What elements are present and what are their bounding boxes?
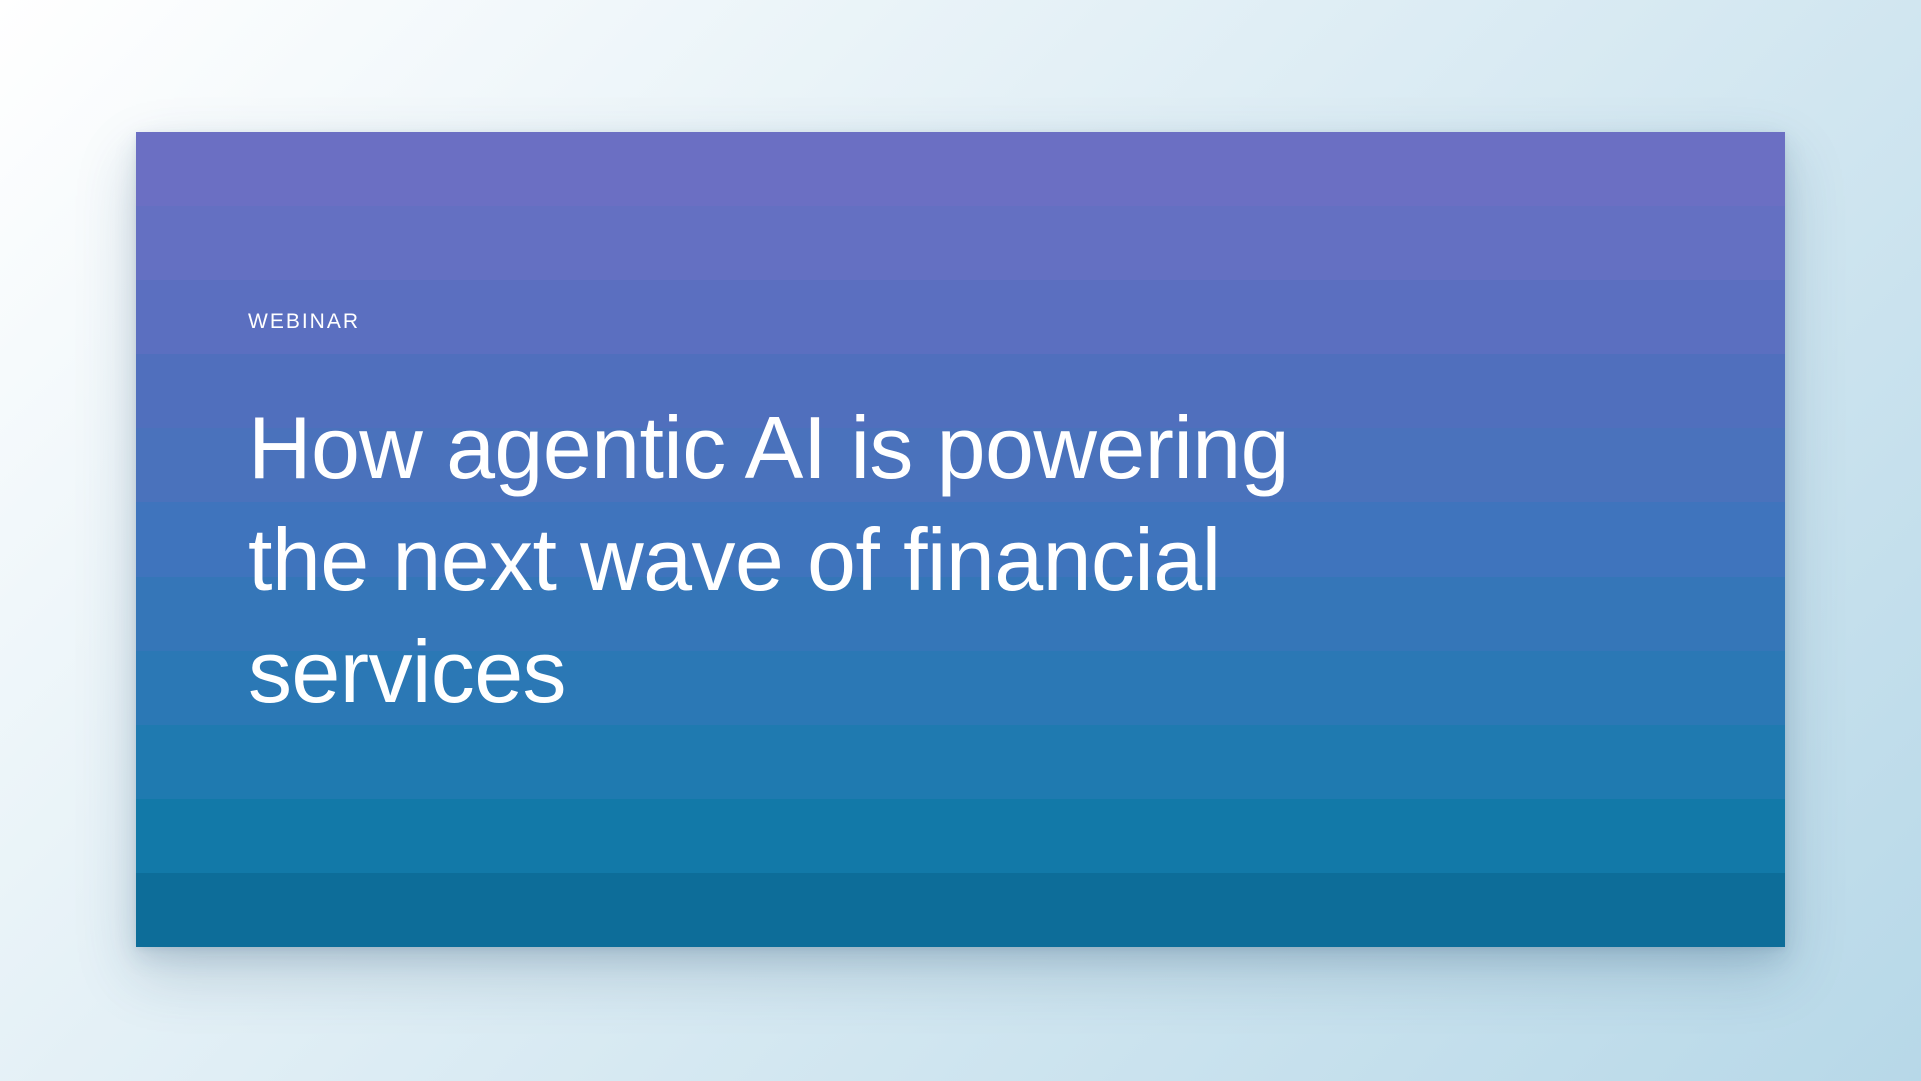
headline-line-1: How agentic AI is powering bbox=[248, 392, 1718, 504]
headline-line-3: services bbox=[248, 616, 1718, 728]
page-title: How agentic AI is powering the next wave… bbox=[248, 392, 1718, 728]
card-content: WEBINAR How agentic AI is powering the n… bbox=[248, 132, 1785, 947]
eyebrow-label: WEBINAR bbox=[248, 310, 360, 334]
page-background: WEBINAR How agentic AI is powering the n… bbox=[0, 0, 1921, 1081]
webinar-promo-card[interactable]: WEBINAR How agentic AI is powering the n… bbox=[136, 132, 1785, 947]
headline-line-2: the next wave of financial bbox=[248, 504, 1718, 616]
